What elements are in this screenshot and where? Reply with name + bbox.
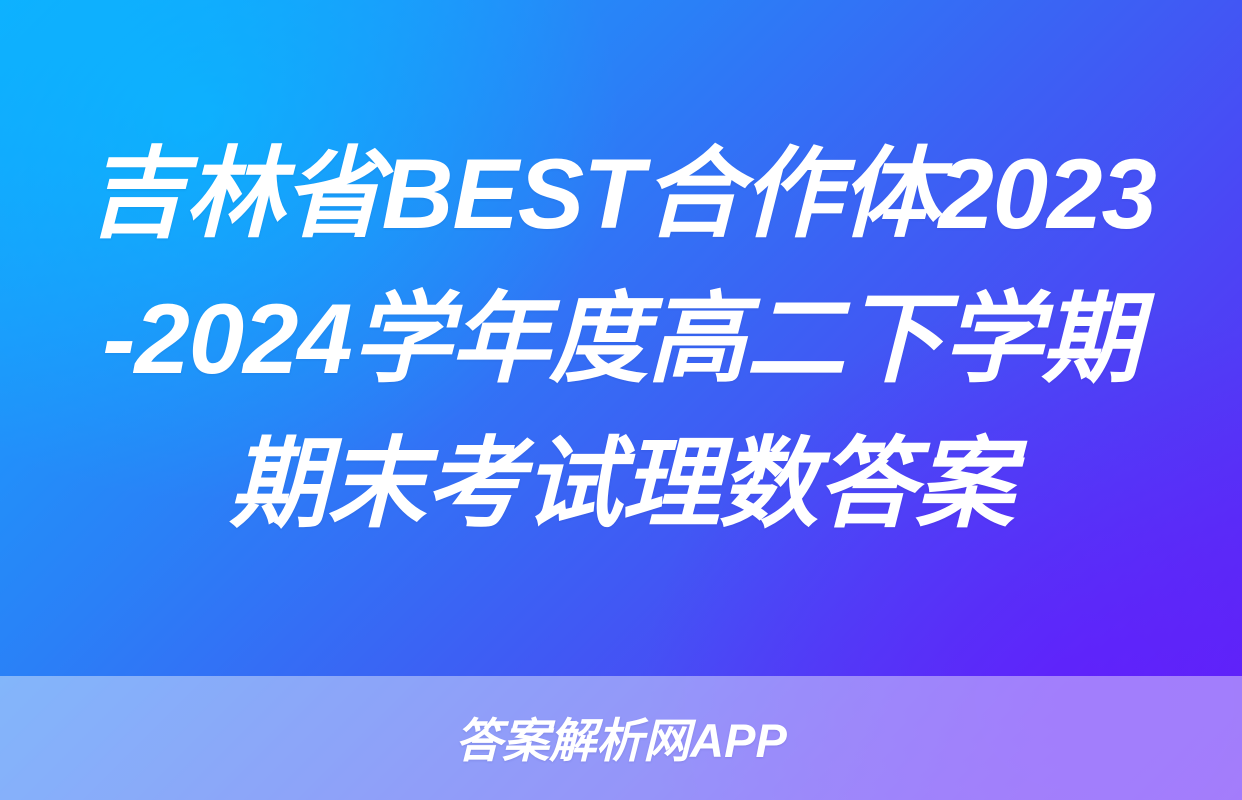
title-block: 吉林省BEST合作体2023 -2024学年度高二下学期 期末考试理数答案 bbox=[0, 0, 1242, 676]
exam-cover-card: 吉林省BEST合作体2023 -2024学年度高二下学期 期末考试理数答案 答案… bbox=[0, 0, 1242, 800]
title-line-2: -2024学年度高二下学期 bbox=[75, 266, 1166, 411]
app-watermark-label: 答案解析网APP bbox=[455, 717, 787, 764]
title-line-1: 吉林省BEST合作体2023 bbox=[75, 121, 1166, 266]
footer-watermark-band: 答案解析网APP bbox=[0, 676, 1242, 800]
title-line-3: 期末考试理数答案 bbox=[78, 411, 1164, 556]
